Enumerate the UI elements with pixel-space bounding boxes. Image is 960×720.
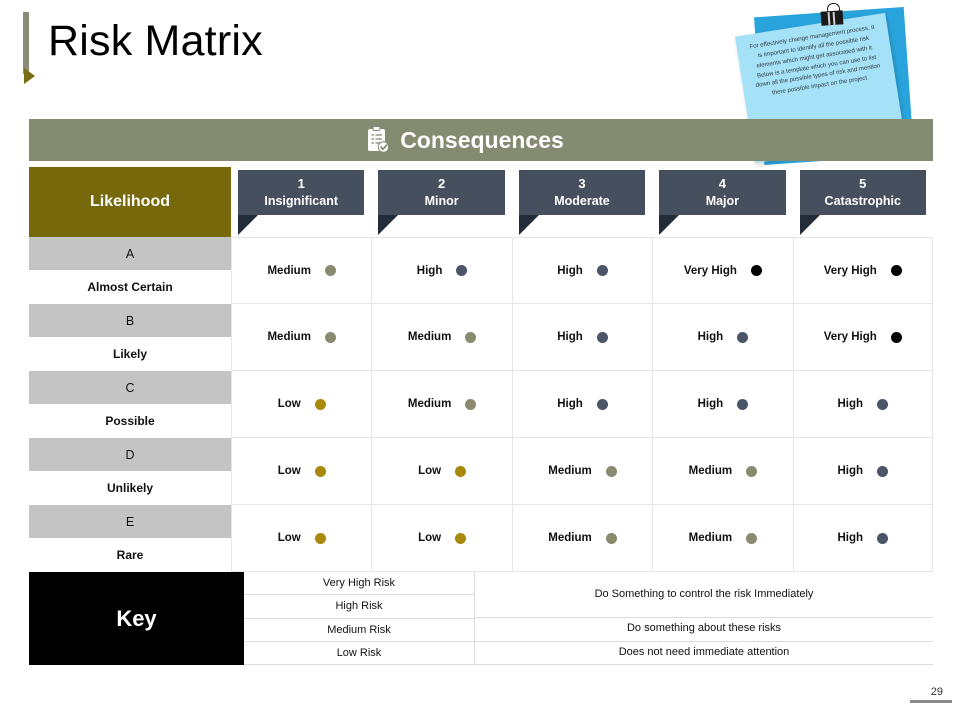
key-levels-column: Very High RiskHigh RiskMedium RiskLow Ri…	[244, 572, 474, 665]
matrix-cell[interactable]: Medium	[231, 304, 371, 371]
clipboard-check-icon	[366, 126, 390, 154]
risk-level-dot	[325, 265, 336, 276]
risk-level-dot	[597, 399, 608, 410]
matrix-cell[interactable]: Medium	[512, 438, 652, 505]
key-level-item: Low Risk	[244, 642, 474, 665]
column-header-number: 2	[378, 175, 504, 193]
risk-level-dot	[465, 399, 476, 410]
risk-level-dot	[315, 399, 326, 410]
column-header-tab: 5Catastrophic	[800, 170, 926, 215]
risk-level-dot	[746, 533, 757, 544]
column-header-label: Major	[706, 194, 739, 208]
matrix-cell[interactable]: High	[512, 237, 652, 304]
matrix-row: CPossibleLowMediumHighHighHigh	[29, 371, 933, 438]
matrix-header-row: Likelihood 1Insignificant2Minor3Moderate…	[29, 167, 933, 237]
risk-level-dot	[746, 466, 757, 477]
likelihood-header: Likelihood	[29, 167, 231, 237]
matrix-cell-label: Low	[418, 465, 441, 477]
column-header-label: Catastrophic	[825, 194, 901, 208]
row-descriptor: Almost Certain	[29, 270, 231, 304]
matrix-cell-label: High	[417, 265, 443, 277]
matrix-cell[interactable]: Medium	[512, 505, 652, 572]
risk-level-dot	[737, 399, 748, 410]
key-action-item: Do something about these risks	[475, 618, 933, 642]
risk-level-dot	[315, 533, 326, 544]
matrix-cell-label: Medium	[548, 532, 591, 544]
risk-level-dot	[737, 332, 748, 343]
row-label-cell: CPossible	[29, 371, 231, 438]
row-label-cell: ERare	[29, 505, 231, 572]
matrix-cell-label: High	[557, 331, 583, 343]
matrix-cell-label: Medium	[689, 532, 732, 544]
risk-level-dot	[597, 332, 608, 343]
row-letter: A	[29, 237, 231, 270]
row-letter: B	[29, 304, 231, 337]
column-header-minor: 2Minor	[371, 167, 511, 237]
matrix-cell-label: Very High	[824, 331, 877, 343]
risk-level-dot	[606, 466, 617, 477]
consequences-header-bar: Consequences	[29, 119, 933, 161]
matrix-cell-label: High	[557, 265, 583, 277]
column-header-tab: 4Major	[659, 170, 785, 215]
column-header-catastrophic: 5Catastrophic	[793, 167, 933, 237]
risk-level-dot	[456, 265, 467, 276]
matrix-cell-label: Medium	[267, 265, 310, 277]
matrix-cell[interactable]: Medium	[652, 438, 792, 505]
matrix-cell-label: Low	[278, 465, 301, 477]
row-descriptor: Rare	[29, 538, 231, 572]
risk-level-dot	[325, 332, 336, 343]
column-header-tail	[238, 215, 258, 235]
page-number: 29	[931, 686, 943, 698]
column-header-label: Insignificant	[264, 194, 338, 208]
column-header-tail	[800, 215, 820, 235]
matrix-cell[interactable]: Medium	[371, 371, 511, 438]
key-level-item: Medium Risk	[244, 619, 474, 642]
matrix-cell-label: High	[837, 398, 863, 410]
risk-level-dot	[597, 265, 608, 276]
matrix-cell[interactable]: Low	[231, 438, 371, 505]
column-header-number: 3	[519, 175, 645, 193]
matrix-row: AAlmost CertainMediumHighHighVery HighVe…	[29, 237, 933, 304]
column-header-label: Moderate	[554, 194, 610, 208]
row-letter: E	[29, 505, 231, 538]
title-arrow-icon	[24, 68, 35, 84]
matrix-cell[interactable]: High	[793, 371, 933, 438]
matrix-cell[interactable]: Low	[371, 438, 511, 505]
matrix-cell[interactable]: Very High	[793, 237, 933, 304]
risk-level-dot	[315, 466, 326, 477]
matrix-cell[interactable]: Very High	[652, 237, 792, 304]
risk-level-dot	[891, 332, 902, 343]
risk-level-dot	[877, 399, 888, 410]
page-title: Risk Matrix	[48, 17, 263, 66]
matrix-cell[interactable]: High	[793, 438, 933, 505]
matrix-cell-label: High	[557, 398, 583, 410]
key-level-item: High Risk	[244, 595, 474, 618]
matrix-cell[interactable]: High	[652, 304, 792, 371]
consequences-label: Consequences	[400, 127, 564, 154]
matrix-row: DUnlikelyLowLowMediumMediumHigh	[29, 438, 933, 505]
matrix-cell-label: Low	[418, 532, 441, 544]
risk-level-dot	[877, 533, 888, 544]
binder-clip-icon	[819, 2, 845, 32]
row-descriptor: Possible	[29, 404, 231, 438]
matrix-cell-label: Medium	[267, 331, 310, 343]
matrix-body: AAlmost CertainMediumHighHighVery HighVe…	[29, 237, 933, 572]
risk-level-dot	[751, 265, 762, 276]
risk-level-dot	[455, 533, 466, 544]
matrix-cell[interactable]: High	[652, 371, 792, 438]
column-header-tab: 1Insignificant	[238, 170, 364, 215]
matrix-cell-label: Very High	[824, 265, 877, 277]
matrix-cell[interactable]: Low	[371, 505, 511, 572]
sticky-note-text: For effectively change management proces…	[746, 22, 886, 101]
matrix-cell[interactable]: Low	[231, 371, 371, 438]
matrix-cell-label: High	[837, 465, 863, 477]
column-header-tab: 2Minor	[378, 170, 504, 215]
row-label-cell: DUnlikely	[29, 438, 231, 505]
risk-level-dot	[877, 466, 888, 477]
matrix-cell-label: Medium	[548, 465, 591, 477]
column-header-moderate: 3Moderate	[512, 167, 652, 237]
key-actions-column: Do Something to control the risk Immedia…	[474, 572, 933, 665]
matrix-cell-label: High	[698, 331, 724, 343]
matrix-cell[interactable]: Medium	[371, 304, 511, 371]
matrix-cell[interactable]: Medium	[652, 505, 792, 572]
matrix-cell-label: Low	[278, 398, 301, 410]
matrix-cell-label: Medium	[408, 398, 451, 410]
matrix-cell[interactable]: Low	[231, 505, 371, 572]
row-label-cell: AAlmost Certain	[29, 237, 231, 304]
column-header-tail	[519, 215, 539, 235]
matrix-cell-label: Medium	[408, 331, 451, 343]
column-header-number: 5	[800, 175, 926, 193]
page-number-rule	[910, 700, 952, 703]
matrix-cell[interactable]: High	[512, 304, 652, 371]
column-header-tail	[378, 215, 398, 235]
matrix-row: BLikelyMediumMediumHighHighVery High	[29, 304, 933, 371]
matrix-cell-label: Very High	[684, 265, 737, 277]
matrix-cell[interactable]: High	[512, 371, 652, 438]
matrix-cell[interactable]: Very High	[793, 304, 933, 371]
column-header-tab: 3Moderate	[519, 170, 645, 215]
column-header-major: 4Major	[652, 167, 792, 237]
row-letter: C	[29, 371, 231, 404]
row-descriptor: Unlikely	[29, 471, 231, 505]
risk-level-dot	[606, 533, 617, 544]
column-header-tail	[659, 215, 679, 235]
matrix-cell-label: High	[837, 532, 863, 544]
matrix-cell[interactable]: Medium	[231, 237, 371, 304]
column-header-number: 4	[659, 175, 785, 193]
matrix-cell[interactable]: High	[371, 237, 511, 304]
risk-level-dot	[891, 265, 902, 276]
column-header-number: 1	[238, 175, 364, 193]
matrix-cell[interactable]: High	[793, 505, 933, 572]
matrix-cell-label: Medium	[689, 465, 732, 477]
column-header-insignificant: 1Insignificant	[231, 167, 371, 237]
row-descriptor: Likely	[29, 337, 231, 371]
matrix-cell-label: Low	[278, 532, 301, 544]
row-letter: D	[29, 438, 231, 471]
key-title: Key	[29, 572, 244, 665]
title-accent-bar	[23, 12, 29, 74]
key-action-item: Does not need immediate attention	[475, 642, 933, 666]
key-level-item: Very High Risk	[244, 572, 474, 595]
row-label-cell: BLikely	[29, 304, 231, 371]
key-legend: Key Very High RiskHigh RiskMedium RiskLo…	[29, 572, 933, 665]
risk-level-dot	[465, 332, 476, 343]
matrix-row: ERareLowLowMediumMediumHigh	[29, 505, 933, 572]
column-header-label: Minor	[425, 194, 459, 208]
risk-level-dot	[455, 466, 466, 477]
matrix-cell-label: High	[698, 398, 724, 410]
risk-matrix: Likelihood 1Insignificant2Minor3Moderate…	[29, 167, 933, 572]
key-action-item: Do Something to control the risk Immedia…	[475, 572, 933, 618]
